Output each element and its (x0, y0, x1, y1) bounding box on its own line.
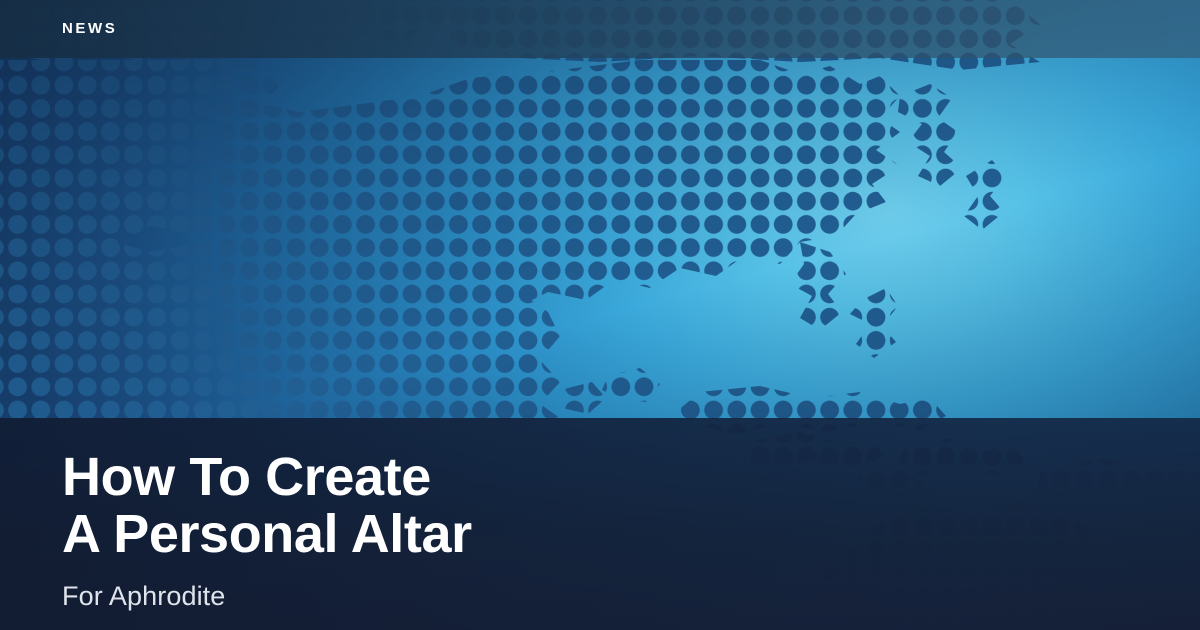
page-title-line-2: A Personal Altar (62, 506, 962, 563)
page-title-line-1: How To Create (62, 449, 962, 506)
news-share-card: NEWS How To Create A Personal Altar For … (0, 0, 1200, 630)
category-label: NEWS (62, 20, 117, 38)
topbar: NEWS (0, 0, 1200, 58)
page-title: How To Create A Personal Altar (62, 449, 962, 563)
page-subtitle: For Aphrodite (62, 580, 225, 613)
